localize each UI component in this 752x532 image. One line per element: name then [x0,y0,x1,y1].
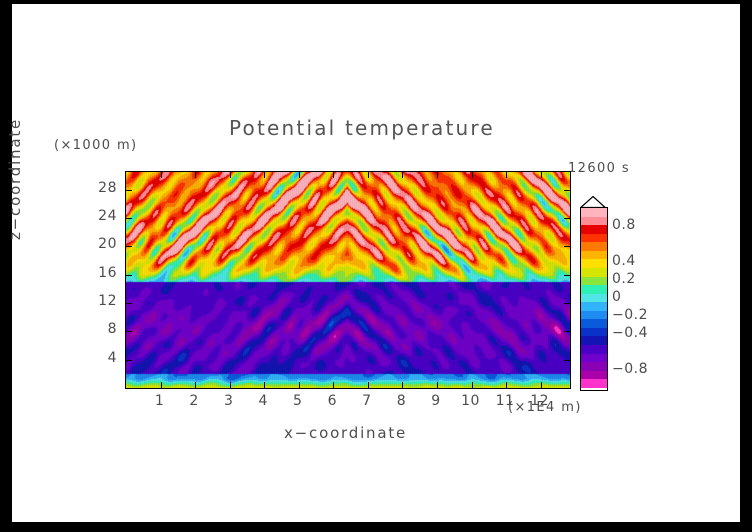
x-tick-mark [264,172,265,178]
colorbar-segment [581,225,607,234]
x-tick-mark [437,172,438,178]
contour-plot-area [125,171,571,389]
y-tick-label: 28 [87,180,117,196]
x-tick-mark [299,382,300,388]
y-tick-mark [564,246,570,247]
colorbar-tick-label: 0.4 [612,253,636,269]
y-axis-unit-label: (×1000 m) [54,138,138,153]
y-tick-label: 16 [87,265,117,281]
colorbar-segment [581,379,607,388]
y-tick-mark [126,360,132,361]
time-annotation: 12600 s [568,161,630,176]
y-tick-mark [564,190,570,191]
colorbar-segment [581,311,607,320]
colorbar-segment [581,345,607,354]
x-tick-label: 12 [525,393,555,409]
x-tick-label: 7 [352,393,382,409]
colorbar-segment [581,371,607,380]
x-tick-mark [541,172,542,178]
colorbar-segment [581,208,607,217]
y-tick-label: 8 [87,321,117,337]
y-tick-mark [126,218,132,219]
colorbar-segment [581,242,607,251]
x-tick-label: 10 [456,393,486,409]
x-tick-label: 11 [490,393,520,409]
y-tick-mark [126,331,132,332]
x-tick-mark [161,382,162,388]
colorbar-segment [581,294,607,303]
colorbar-segment [581,234,607,243]
x-tick-mark [506,382,507,388]
y-tick-mark [564,331,570,332]
x-tick-label: 5 [283,393,313,409]
x-tick-mark [264,382,265,388]
colorbar: 0.80.40.20−0.2−0.4−0.8 [580,196,606,389]
colorbar-segment [581,285,607,294]
colorbar-tick-label: −0.8 [612,361,648,377]
colorbar-segment [581,217,607,226]
x-tick-mark [472,382,473,388]
x-tick-label: 2 [179,393,209,409]
x-tick-mark [368,382,369,388]
x-tick-mark [195,382,196,388]
y-tick-mark [564,360,570,361]
y-tick-mark [564,218,570,219]
x-tick-mark [333,382,334,388]
page-title: Potential temperature [229,116,495,140]
y-tick-mark [126,190,132,191]
y-tick-mark [126,275,132,276]
y-tick-label: 4 [87,350,117,366]
colorbar-segment [581,336,607,345]
colorbar-segment [581,362,607,371]
x-tick-mark [230,382,231,388]
figure-root: Potential temperature (×1000 m) (×1E4 m)… [0,0,752,532]
y-tick-mark [564,275,570,276]
y-tick-label: 20 [87,236,117,252]
colorbar-gradient [580,207,608,391]
x-tick-mark [437,382,438,388]
figure-canvas: Potential temperature (×1000 m) (×1E4 m)… [12,4,740,522]
colorbar-segment [581,251,607,260]
x-tick-label: 3 [214,393,244,409]
y-tick-label: 12 [87,293,117,309]
y-tick-mark [126,246,132,247]
x-axis-title: x−coordinate [284,424,407,442]
x-tick-mark [195,172,196,178]
x-tick-mark [161,172,162,178]
x-tick-mark [368,172,369,178]
colorbar-segment [581,319,607,328]
x-tick-label: 8 [386,393,416,409]
x-tick-mark [506,172,507,178]
colorbar-tick-label: −0.2 [612,307,648,323]
x-tick-mark [299,172,300,178]
y-tick-mark [564,303,570,304]
x-tick-mark [402,172,403,178]
y-axis-title: z−coordinate [6,118,24,240]
y-tick-label: 24 [87,208,117,224]
colorbar-segment [581,328,607,337]
x-tick-mark [333,172,334,178]
y-tick-mark [126,303,132,304]
colorbar-segment [581,277,607,286]
colorbar-segment [581,259,607,268]
colorbar-tick-label: −0.4 [612,325,648,341]
x-tick-mark [230,172,231,178]
x-tick-label: 4 [248,393,278,409]
x-tick-label: 1 [145,393,175,409]
colorbar-segment [581,268,607,277]
x-tick-label: 6 [317,393,347,409]
x-tick-mark [472,172,473,178]
x-tick-mark [402,382,403,388]
colorbar-tick-label: 0 [612,289,621,305]
x-tick-mark [541,382,542,388]
colorbar-segment [581,302,607,311]
colorbar-tick-label: 0.2 [612,271,636,287]
x-tick-label: 9 [421,393,451,409]
colorbar-tick-label: 0.8 [612,217,636,233]
contour-field [126,172,570,388]
colorbar-segment [581,354,607,363]
